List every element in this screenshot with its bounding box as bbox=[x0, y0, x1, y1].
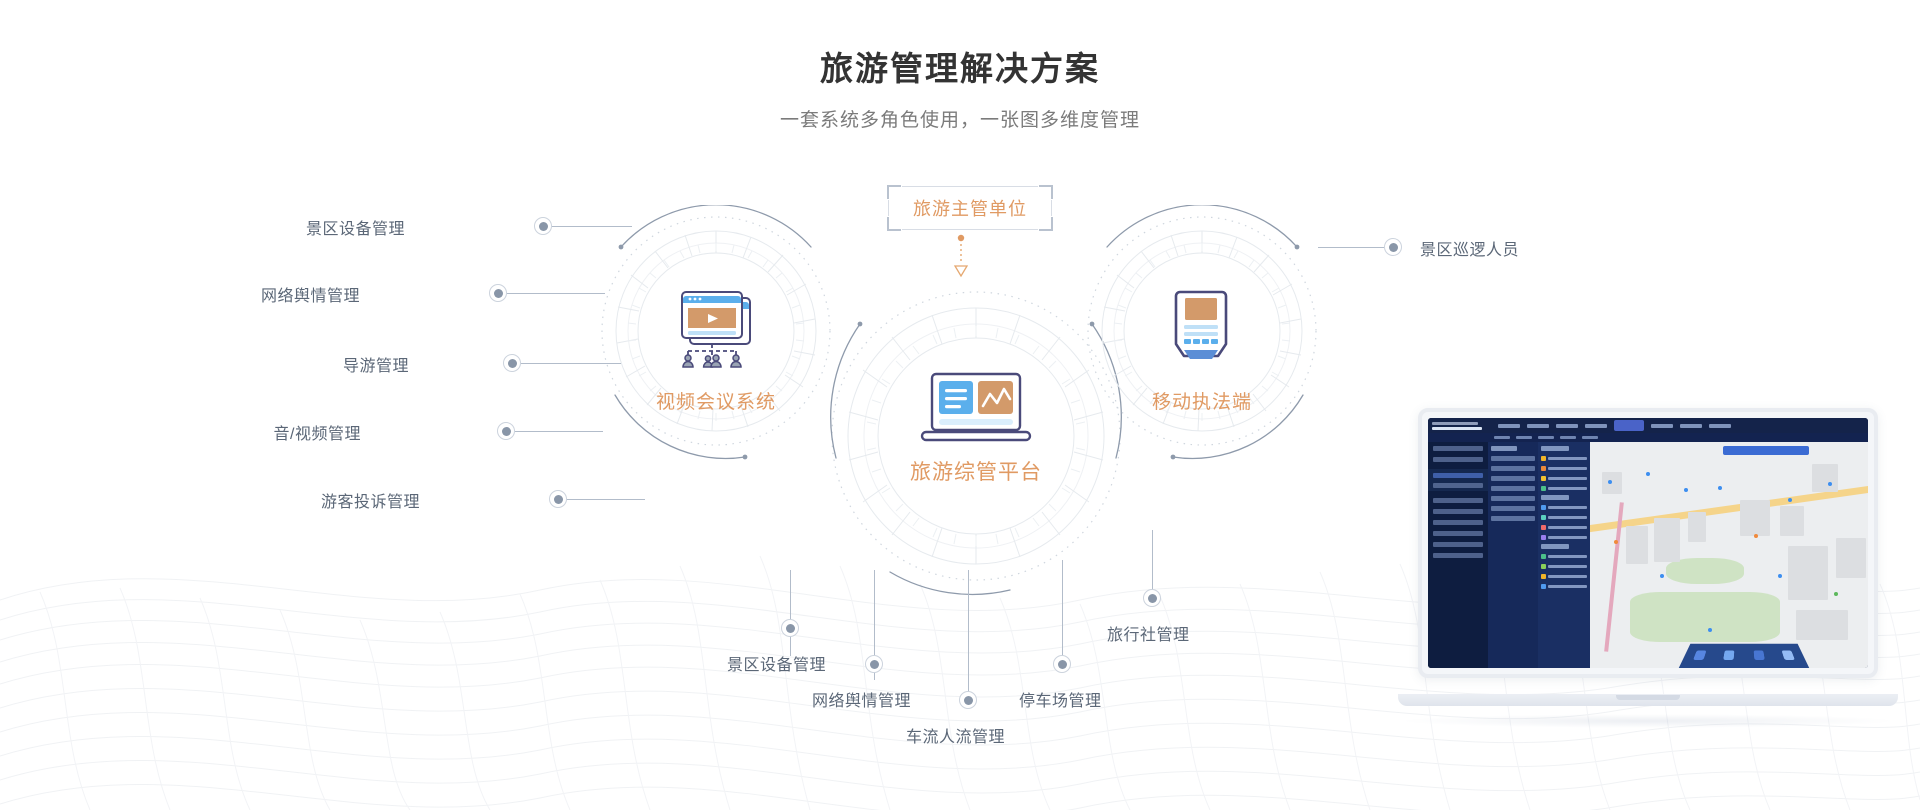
left-leader-1 bbox=[507, 293, 605, 294]
app-nav[interactable] bbox=[1490, 420, 1868, 431]
map-block-4 bbox=[1740, 500, 1770, 536]
app-body bbox=[1428, 442, 1868, 668]
left-node-3[interactable] bbox=[497, 422, 515, 440]
map-pin-6[interactable] bbox=[1718, 486, 1722, 490]
map-block-2 bbox=[1654, 518, 1680, 562]
laptop-preview bbox=[1398, 408, 1898, 718]
app-window bbox=[1428, 418, 1868, 668]
map-pin-9[interactable] bbox=[1778, 574, 1782, 578]
auth-edge-top bbox=[902, 186, 1038, 187]
map-pin-7[interactable] bbox=[1788, 498, 1792, 502]
map-block-9 bbox=[1796, 610, 1848, 640]
map-pin-8[interactable] bbox=[1828, 482, 1832, 486]
left-label-4: 游客投诉管理 bbox=[275, 488, 420, 512]
map-block-5 bbox=[1780, 506, 1804, 536]
app-layer-tree[interactable] bbox=[1488, 442, 1538, 668]
left-leader-4 bbox=[567, 499, 645, 500]
auth-edge-right bbox=[1051, 200, 1052, 216]
left-leader-3 bbox=[515, 431, 603, 432]
left-label-3: 音/视频管理 bbox=[216, 420, 361, 444]
map-pin-1[interactable] bbox=[1608, 480, 1612, 484]
bottom-label-4: 旅行社管理 bbox=[1107, 621, 1190, 645]
video-window-icon bbox=[672, 290, 762, 368]
map-block-6 bbox=[1812, 464, 1838, 492]
map-pin-12[interactable] bbox=[1708, 628, 1712, 632]
map-pin-2[interactable] bbox=[1646, 472, 1650, 476]
bottom-leader-3 bbox=[1062, 560, 1063, 670]
bottom-leader-2 bbox=[968, 570, 969, 708]
map-pin-4[interactable] bbox=[1614, 540, 1618, 544]
map-search-bar[interactable] bbox=[1723, 446, 1809, 455]
map-block-8 bbox=[1836, 538, 1866, 578]
bottom-node-4[interactable] bbox=[1143, 589, 1161, 607]
map-quick-action-tray[interactable] bbox=[1678, 644, 1809, 668]
laptop-screen bbox=[1418, 408, 1878, 678]
left-label-1: 网络舆情管理 bbox=[215, 282, 360, 306]
map-pin-5[interactable] bbox=[1754, 534, 1758, 538]
auth-corner-top-right bbox=[1039, 185, 1053, 199]
left-node-1[interactable] bbox=[489, 284, 507, 302]
left-node-2[interactable] bbox=[503, 354, 521, 372]
map-block-10 bbox=[1602, 472, 1622, 494]
map-block-3 bbox=[1688, 512, 1706, 542]
page-subtitle: 一套系统多角色使用，一张图多维度管理 bbox=[0, 105, 1920, 132]
left-label-0: 景区设备管理 bbox=[260, 215, 405, 239]
map-block-1 bbox=[1626, 526, 1648, 564]
bottom-node-1[interactable] bbox=[865, 655, 883, 673]
bottom-node-3[interactable] bbox=[1053, 655, 1071, 673]
left-node-4[interactable] bbox=[549, 490, 567, 508]
bottom-label-0: 景区设备管理 bbox=[727, 651, 826, 675]
map-pin-10[interactable] bbox=[1834, 592, 1838, 596]
app-sidebar[interactable] bbox=[1428, 442, 1488, 668]
page-title: 旅游管理解决方案 bbox=[0, 42, 1920, 90]
auth-corner-bottom-left bbox=[887, 217, 901, 231]
app-layer-panel[interactable] bbox=[1488, 442, 1590, 668]
solution-infographic: 旅游管理解决方案 一套系统多角色使用，一张图多维度管理 旅游主管单位 bbox=[0, 0, 1920, 810]
laptop-dashboard-icon bbox=[918, 372, 1034, 450]
left-label-2: 导游管理 bbox=[264, 352, 409, 376]
bottom-node-0[interactable] bbox=[781, 619, 799, 637]
map-pin-11[interactable] bbox=[1660, 574, 1664, 578]
map-pin-3[interactable] bbox=[1684, 488, 1688, 492]
right-leader-0 bbox=[1318, 247, 1384, 248]
auth-corner-bottom-right bbox=[1039, 217, 1053, 231]
map-block-7 bbox=[1788, 546, 1828, 600]
app-tab-strip[interactable] bbox=[1428, 433, 1868, 442]
bottom-label-3: 停车场管理 bbox=[1019, 687, 1102, 711]
auth-edge-left bbox=[888, 200, 889, 216]
auth-edge-bottom bbox=[902, 229, 1038, 230]
auth-corner-top-left bbox=[887, 185, 901, 199]
left-leader-0 bbox=[552, 226, 632, 227]
bottom-node-2[interactable] bbox=[959, 691, 977, 709]
authority-box: 旅游主管单位 bbox=[888, 186, 1052, 230]
bottom-leader-4 bbox=[1152, 530, 1153, 596]
authority-label: 旅游主管单位 bbox=[913, 195, 1027, 221]
app-map-canvas[interactable] bbox=[1590, 442, 1868, 668]
ring-label-mobile-enforcement: 移动执法端 bbox=[1086, 387, 1318, 414]
handheld-terminal-icon bbox=[1168, 288, 1234, 370]
bottom-label-1: 网络舆情管理 bbox=[812, 687, 911, 711]
app-logo bbox=[1428, 418, 1490, 433]
right-label-0: 景区巡逻人员 bbox=[1420, 236, 1519, 260]
bottom-leader-0 bbox=[790, 570, 791, 656]
app-top-bar bbox=[1428, 418, 1868, 433]
bottom-label-2: 车流人流管理 bbox=[906, 723, 1005, 747]
left-leader-2 bbox=[521, 363, 621, 364]
right-node-0[interactable] bbox=[1384, 238, 1402, 256]
ring-label-video-conference: 视频会议系统 bbox=[600, 387, 832, 414]
left-node-0[interactable] bbox=[534, 217, 552, 235]
map-green-area-2 bbox=[1630, 592, 1780, 642]
laptop-notch bbox=[1616, 695, 1680, 700]
app-legend-list[interactable] bbox=[1538, 442, 1590, 668]
